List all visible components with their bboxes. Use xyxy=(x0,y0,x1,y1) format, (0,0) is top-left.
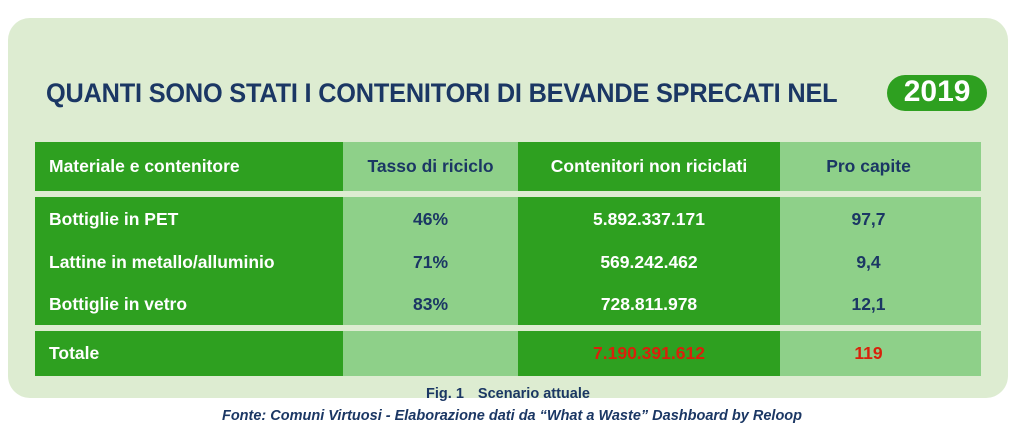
cell-contenitori: 5.892.337.171 xyxy=(518,197,780,241)
cell-total-tasso xyxy=(343,331,518,376)
cell-tasso: 46% xyxy=(343,197,518,241)
cell-total-label: Totale xyxy=(35,331,343,376)
cell-tasso: 83% xyxy=(343,283,518,325)
cell-pro-capite: 12,1 xyxy=(780,283,981,325)
table-row: Bottiglie in PET 46% 5.892.337.171 97,7 xyxy=(35,197,981,241)
cell-total-contenitori: 7.190.391.612 xyxy=(518,331,780,376)
cell-total-pro-capite: 119 xyxy=(780,331,981,376)
title-row: QUANTI SONO STATI I CONTENITORI DI BEVAN… xyxy=(46,68,988,118)
figure-number: Fig. 1 xyxy=(426,386,464,402)
cell-pro-capite: 9,4 xyxy=(780,241,981,283)
table-header-row: Materiale e contenitore Tasso di riciclo… xyxy=(35,142,981,191)
waste-data-table: Materiale e contenitore Tasso di riciclo… xyxy=(35,142,981,376)
cell-materiale: Bottiglie in vetro xyxy=(35,283,343,325)
cell-materiale: Lattine in metallo/alluminio xyxy=(35,241,343,283)
column-header-materiale: Materiale e contenitore xyxy=(35,142,343,191)
cell-contenitori: 569.242.462 xyxy=(518,241,780,283)
table-row: Lattine in metallo/alluminio 71% 569.242… xyxy=(35,241,981,283)
year-badge: 2019 xyxy=(887,75,988,112)
table-row: Bottiglie in vetro 83% 728.811.978 12,1 xyxy=(35,283,981,325)
page-title: QUANTI SONO STATI I CONTENITORI DI BEVAN… xyxy=(46,78,837,109)
column-header-contenitori: Contenitori non riciclati xyxy=(518,142,780,191)
cell-contenitori: 728.811.978 xyxy=(518,283,780,325)
cell-pro-capite: 97,7 xyxy=(780,197,981,241)
table-body: Bottiglie in PET 46% 5.892.337.171 97,7 … xyxy=(35,197,981,325)
cell-tasso: 71% xyxy=(343,241,518,283)
column-header-tasso: Tasso di riciclo xyxy=(343,142,518,191)
column-header-pro-capite: Pro capite xyxy=(780,142,981,191)
figure-caption: Fig. 1Scenario attuale xyxy=(8,386,1008,402)
cell-materiale: Bottiglie in PET xyxy=(35,197,343,241)
table-total-row: Totale 7.190.391.612 119 xyxy=(35,331,981,376)
source-note: Fonte: Comuni Virtuosi - Elaborazione da… xyxy=(0,408,1024,424)
infographic-panel: QUANTI SONO STATI I CONTENITORI DI BEVAN… xyxy=(8,18,1008,398)
figure-title: Scenario attuale xyxy=(478,386,590,402)
